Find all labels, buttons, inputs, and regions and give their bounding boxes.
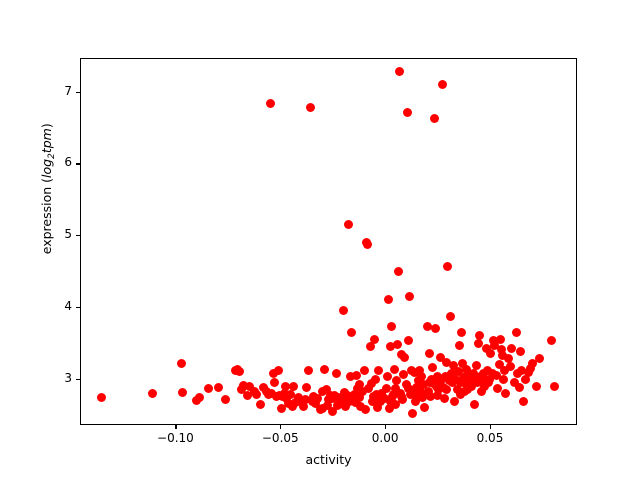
scatter-point (390, 365, 399, 374)
scatter-point (177, 359, 186, 368)
scatter-point (405, 292, 414, 301)
x-tick-label: −0.10 (140, 431, 210, 445)
scatter-point (455, 341, 464, 350)
scatter-point (428, 363, 437, 372)
scatter-point (433, 391, 442, 400)
y-axis-label-prefix: expression ( (39, 178, 54, 254)
scatter-point (519, 397, 528, 406)
x-tick-mark (490, 425, 491, 429)
scatter-point (472, 361, 481, 370)
y-tick-mark (76, 307, 80, 308)
scatter-point (457, 328, 466, 337)
scatter-point (346, 372, 355, 381)
scatter-point (256, 400, 265, 409)
scatter-point (371, 375, 380, 384)
scatter-point (97, 393, 106, 402)
x-tick-mark (385, 425, 386, 429)
x-tick-label: −0.05 (245, 431, 315, 445)
scatter-point (498, 351, 507, 360)
scatter-point (408, 409, 417, 418)
scatter-point (404, 384, 413, 393)
scatter-points-layer (81, 59, 576, 424)
scatter-point (512, 328, 521, 337)
scatter-point (456, 390, 465, 399)
scatter-point (332, 369, 341, 378)
x-axis-label: activity (80, 452, 577, 467)
scatter-point (425, 349, 434, 358)
scatter-point (395, 67, 404, 76)
scatter-point (429, 379, 438, 388)
scatter-point (485, 375, 494, 384)
scatter-point (532, 382, 541, 391)
y-tick-mark (76, 92, 80, 93)
scatter-point (318, 387, 327, 396)
scatter-point (302, 383, 311, 392)
scatter-point (374, 366, 383, 375)
scatter-point (404, 336, 413, 345)
scatter-point (446, 312, 455, 321)
scatter-point (195, 393, 204, 402)
scatter-point (430, 114, 439, 123)
scatter-point (475, 331, 484, 340)
y-tick-mark (76, 235, 80, 236)
scatter-point (394, 267, 403, 276)
scatter-point (306, 103, 315, 112)
x-tick-mark (280, 425, 281, 429)
y-tick-label: 3 (46, 371, 72, 385)
scatter-point (438, 80, 447, 89)
scatter-point (431, 324, 440, 333)
scatter-point (383, 372, 392, 381)
scatter-point (214, 383, 223, 392)
scatter-point (252, 390, 261, 399)
scatter-point (550, 382, 559, 391)
y-axis-label-suffix: ) (39, 123, 54, 128)
scatter-point (304, 366, 313, 375)
scatter-point (486, 349, 495, 358)
x-tick-label: 0.05 (455, 431, 525, 445)
scatter-point (387, 322, 396, 331)
scatter-point (178, 388, 187, 397)
scatter-point (515, 383, 524, 392)
scatter-point (339, 306, 348, 315)
scatter-point (477, 387, 486, 396)
scatter-point (361, 405, 370, 414)
scatter-point (360, 366, 369, 375)
scatter-point (344, 220, 353, 229)
scatter-point (501, 389, 510, 398)
scatter-point (443, 262, 452, 271)
y-tick-mark (76, 379, 80, 380)
scatter-point (363, 240, 372, 249)
scatter-point (535, 354, 544, 363)
scatter-point (270, 378, 279, 387)
scatter-point (386, 397, 395, 406)
scatter-point (499, 375, 508, 384)
y-axis-label: expression (log2tpm) (39, 49, 57, 329)
scatter-point (384, 295, 393, 304)
x-tick-mark (175, 425, 176, 429)
scatter-point (204, 384, 213, 393)
y-axis-label-log: log (39, 159, 54, 178)
y-axis-label-base-sub: 2 (47, 153, 57, 159)
scatter-point (496, 335, 505, 344)
y-axis-label-tpm: tpm (39, 128, 54, 153)
plot-area (80, 58, 577, 425)
scatter-point (393, 340, 402, 349)
scatter-point (221, 395, 230, 404)
scatter-point (266, 99, 275, 108)
scatter-point (347, 328, 356, 337)
scatter-point (516, 347, 525, 356)
scatter-point (235, 367, 244, 376)
scatter-point (148, 389, 157, 398)
scatter-point (420, 403, 429, 412)
scatter-point (320, 365, 329, 374)
scatter-point (547, 336, 556, 345)
scatter-point (470, 400, 479, 409)
scatter-point (403, 108, 412, 117)
y-tick-mark (76, 163, 80, 164)
scatter-point (274, 366, 283, 375)
scatter-point (370, 335, 379, 344)
scatter-plot-figure: ELF3_EHF, ρ = 0.13 hg19_v2_chr11_+_34642… (0, 0, 640, 480)
scatter-point (289, 382, 298, 391)
x-tick-label: 0.00 (350, 431, 420, 445)
scatter-point (328, 407, 337, 416)
